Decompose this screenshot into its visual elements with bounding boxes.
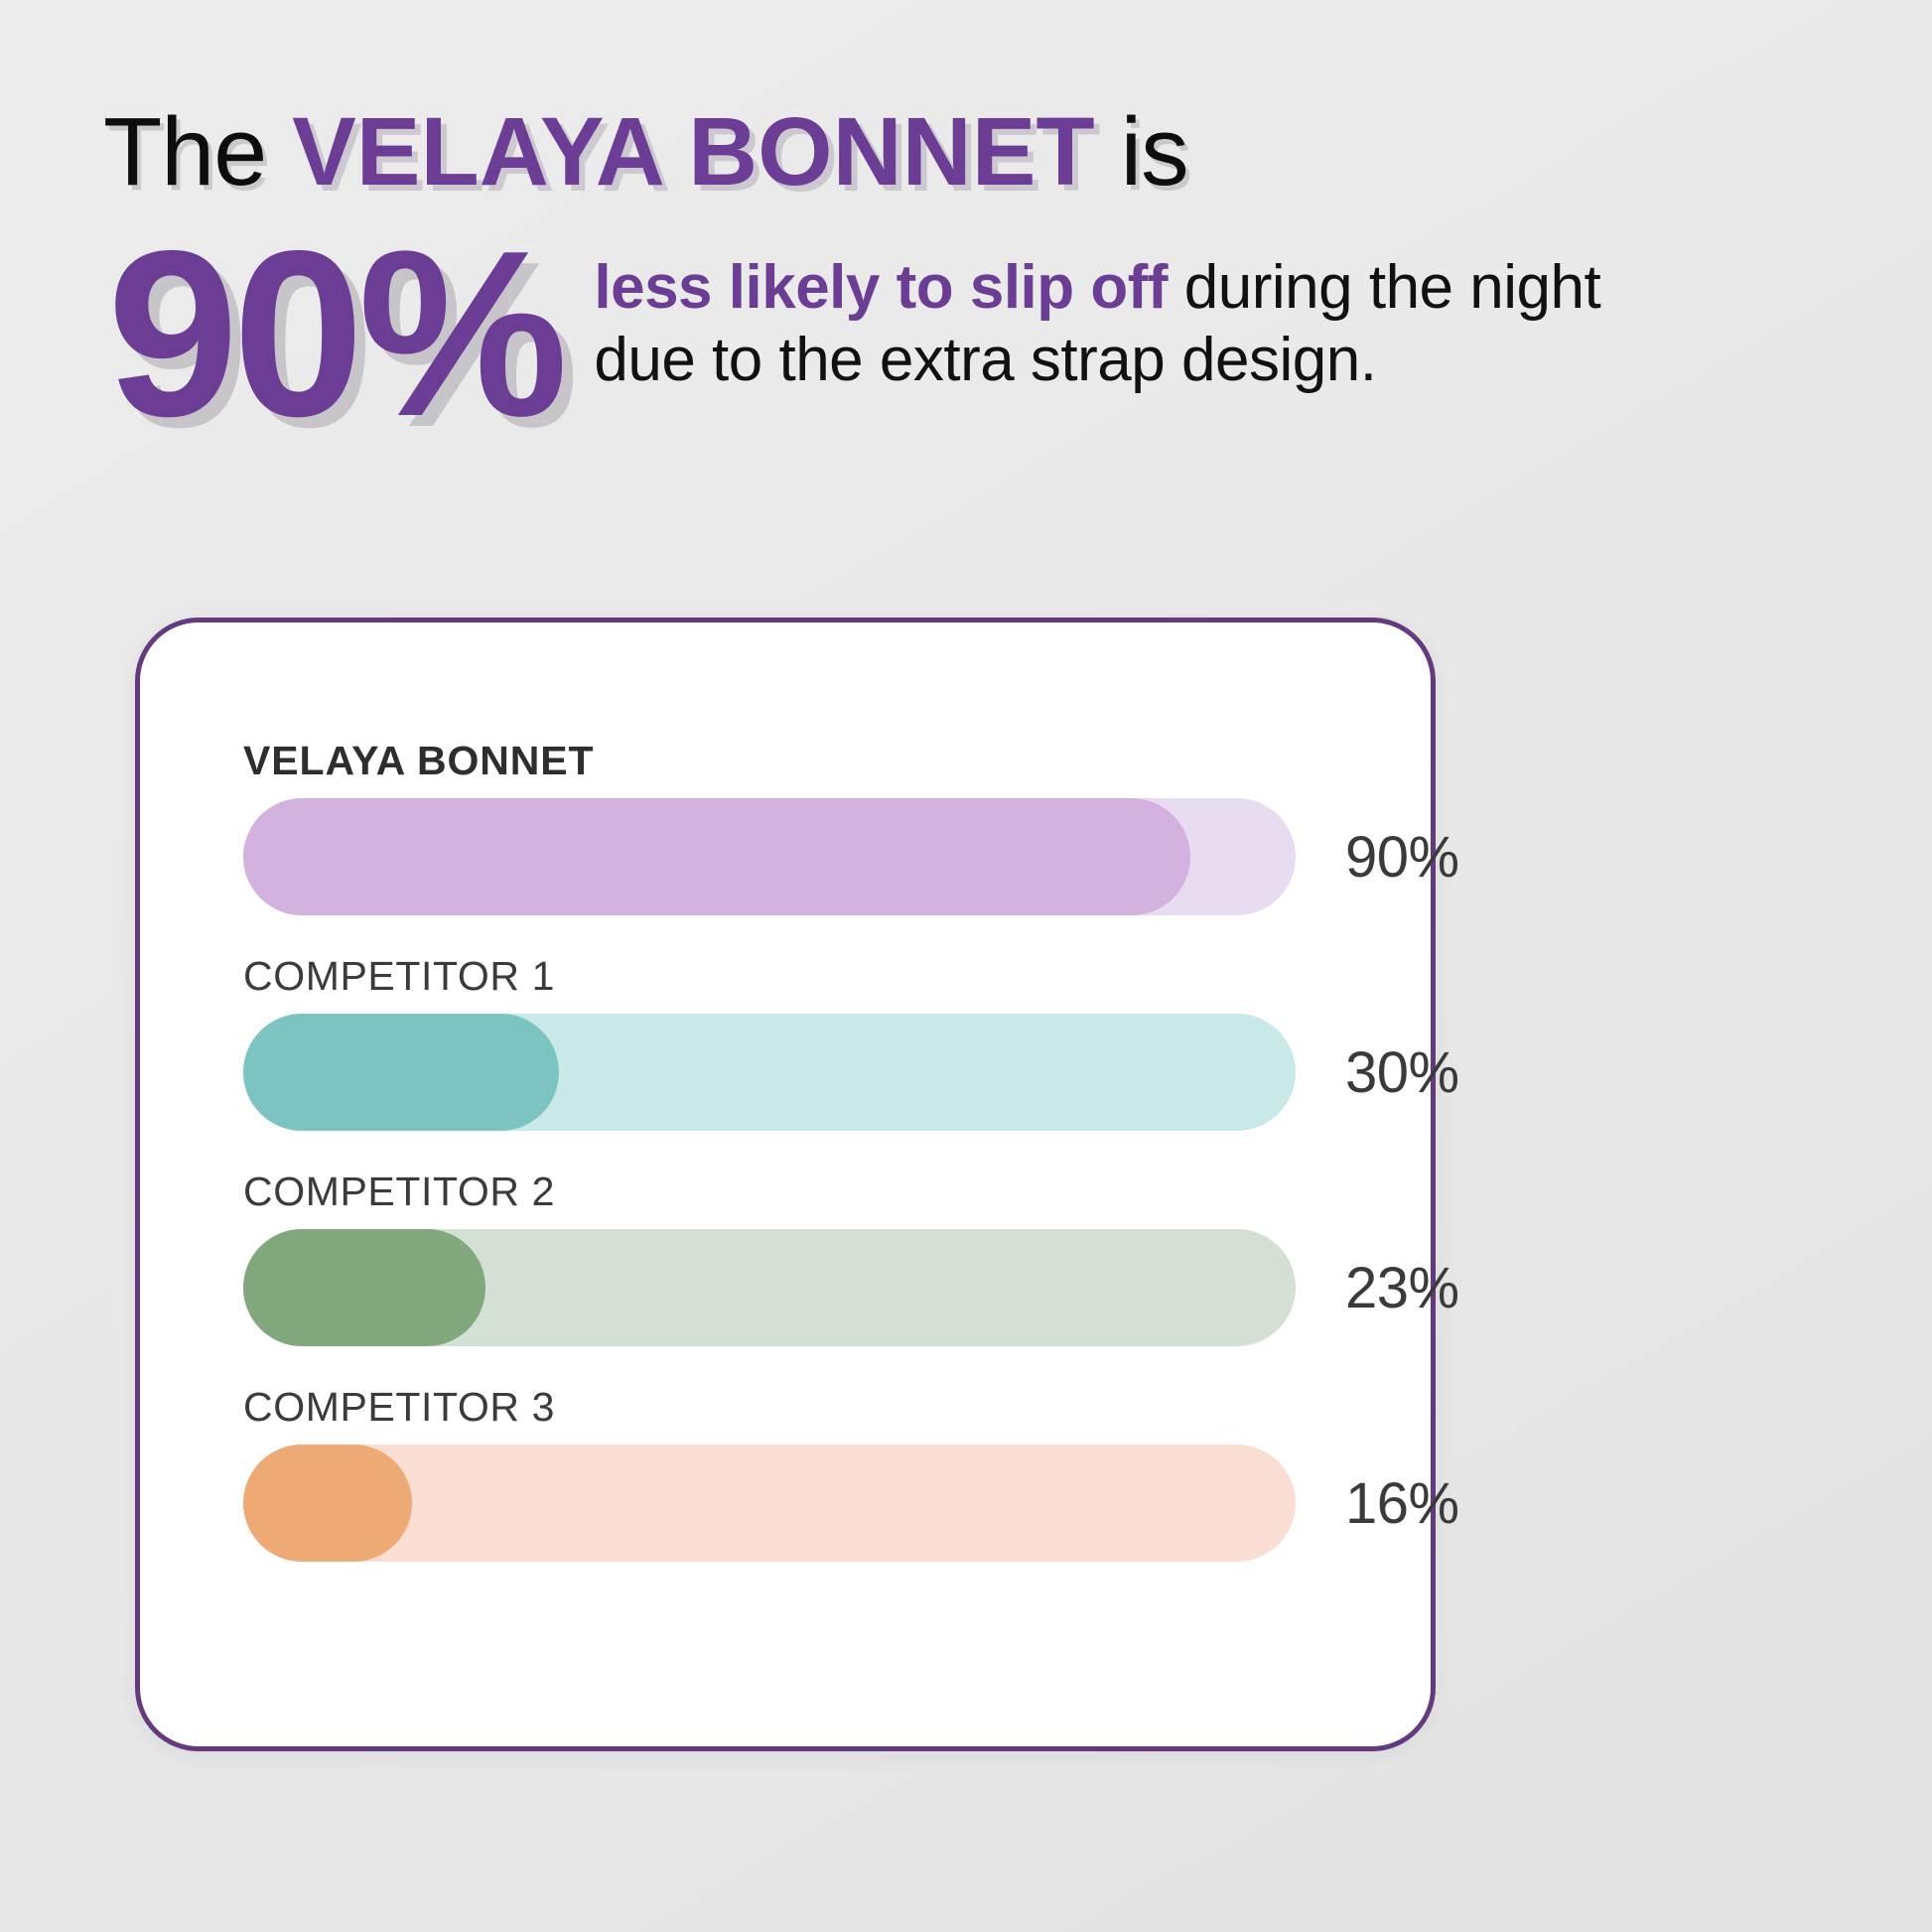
paragraph-highlight: less likely to slip off [594,253,1168,322]
supporting-paragraph: less likely to slip off during the night… [562,226,1646,396]
bar-track [243,1014,1296,1131]
bar-label: COMPETITOR 3 [243,1384,1431,1431]
bar-track [243,798,1296,915]
bar-value-label: 30% [1345,1039,1459,1106]
bar-line: 16% [243,1445,1431,1562]
bar-line: 90% [243,798,1431,915]
bar-track [243,1445,1296,1562]
comparison-chart-card: VELAYA BONNET 90% COMPETITOR 1 30% COMPE… [135,618,1436,1751]
bar-value-label: 16% [1345,1470,1459,1537]
bar-row: COMPETITOR 1 30% [243,953,1431,1131]
bar-line: 30% [243,1014,1431,1131]
bar-fill [243,1014,559,1131]
headline-block: The VELAYA BONNET is [103,103,1851,202]
headline-line: The VELAYA BONNET is [103,103,1851,202]
bar-value-label: 90% [1345,824,1459,891]
stat-paragraph-row: 90% less likely to slip off during the n… [103,226,1870,444]
bar-line: 23% [243,1229,1431,1346]
bar-fill [243,798,1190,915]
bar-value-label: 23% [1345,1255,1459,1321]
bar-row: COMPETITOR 2 23% [243,1169,1431,1346]
headline-brand: VELAYA BONNET [292,97,1095,206]
headline-suffix: is [1121,97,1188,206]
bar-chart: VELAYA BONNET 90% COMPETITOR 1 30% COMPE… [243,738,1431,1746]
bar-label: VELAYA BONNET [243,738,1431,784]
bar-track [243,1229,1296,1346]
big-stat-value: 90% [103,226,562,444]
headline-prefix: The [103,97,266,206]
bar-fill [243,1445,412,1562]
bar-fill [243,1229,485,1346]
bar-row: VELAYA BONNET 90% [243,738,1431,915]
bar-label: COMPETITOR 1 [243,953,1431,1000]
bar-row: COMPETITOR 3 16% [243,1384,1431,1562]
bar-label: COMPETITOR 2 [243,1169,1431,1215]
